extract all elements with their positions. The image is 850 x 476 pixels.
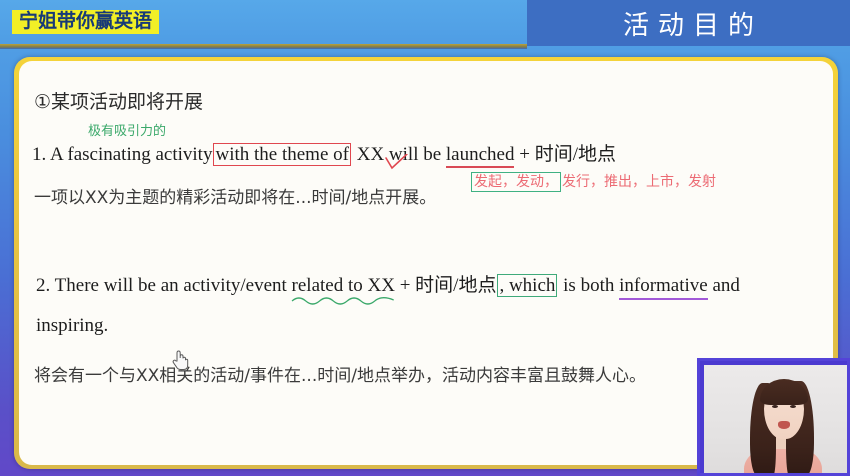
sentence1-boxed-phrase: with the theme of <box>213 143 351 166</box>
header-band: 宁姐带你赢英语 活动目的 <box>0 0 850 49</box>
brand-chip: 宁姐带你赢英语 <box>12 10 159 34</box>
brand-label: 宁姐带你赢英语 <box>19 10 152 32</box>
sentence1-prefix: 1. A fascinating activity <box>32 144 212 165</box>
presenter-eye-right <box>790 405 796 408</box>
presenter-webcam[interactable] <box>697 358 850 476</box>
translation-2: 将会有一个与XX相关的活动/事件在...时间/地点举办，活动内容丰富且鼓舞人心。 <box>34 361 646 386</box>
sentence2-wave-phrase: related to XX <box>292 275 395 296</box>
vocab-annotation-boxed: 发起，发动， <box>471 172 561 192</box>
presenter-mouth <box>778 421 790 429</box>
sentence2-suffix: and <box>708 275 740 296</box>
sentence2-underlined-adj: informative <box>619 275 708 300</box>
vocab-annotation-rest: 发行，推出，上市，发射 <box>562 174 716 190</box>
slide-heading: ①某项活动即将开展 <box>34 87 203 114</box>
translation-1: 一项以XX为主题的精彩活动即将在...时间/地点开展。 <box>34 183 436 208</box>
presenter-eye-left <box>772 405 778 408</box>
vocab-annotation: 发起，发动，发行，推出，上市，发射 <box>471 171 716 191</box>
screen-root: 宁姐带你赢英语 活动目的 ①某项活动即将开展 极有吸引力的 发起，发动，发行，推… <box>0 0 850 476</box>
sentence2-prefix: 2. There will be an activity/event <box>36 275 292 296</box>
sentence1-underlined-verb: launched <box>446 144 515 168</box>
sentence2-wave-text: related to XX <box>292 275 395 296</box>
sentence2-mid2: is both <box>558 275 619 296</box>
sentence2-mid: + 时间/地点 <box>395 275 497 296</box>
example-sentence-2-continuation: inspiring. <box>36 315 108 337</box>
page-title: 活动目的 <box>527 0 850 46</box>
sentence1-suffix: + 时间/地点 <box>514 144 616 165</box>
header-left-underline <box>0 44 527 49</box>
example-sentence-1: 1. A fascinating activitywith the theme … <box>32 139 616 166</box>
hint-green-label: 极有吸引力的 <box>88 120 166 139</box>
webcam-video <box>704 365 849 475</box>
red-check-mark <box>385 154 409 170</box>
sentence2-boxed-phrase: , which <box>497 274 557 297</box>
example-sentence-2: 2. There will be an activity/event relat… <box>36 270 740 297</box>
